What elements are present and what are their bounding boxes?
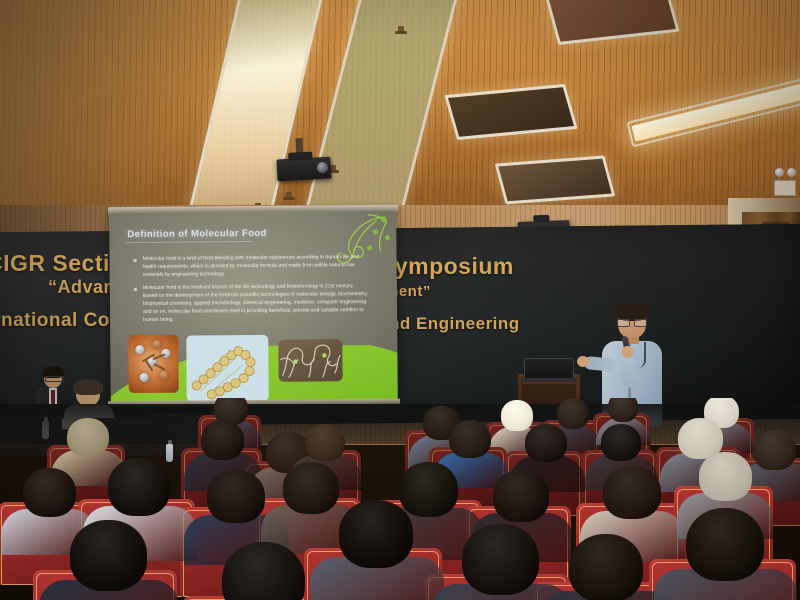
- audience-member: [452, 524, 548, 600]
- emergency-light: [775, 168, 797, 178]
- audience-member-head: [222, 542, 305, 600]
- audience-member: [196, 420, 250, 474]
- slide-bullet-2-text: Molecular food is the forefront branch o…: [143, 282, 368, 324]
- audience-area: [0, 398, 800, 600]
- audience-member: [330, 500, 422, 592]
- audience-member-head: [699, 452, 752, 501]
- audience-member-head: [108, 458, 170, 516]
- laptop: [524, 358, 574, 380]
- audience-member-head: [449, 420, 491, 458]
- ceiling-light-fixture-5: [495, 156, 616, 205]
- audience-member-head: [608, 398, 638, 422]
- slide-bullet-1-text: Molecular food is a kind of food blendin…: [143, 253, 368, 279]
- audience-member: [560, 534, 652, 600]
- slide-bullet-1: Molecular food is a kind of food blendin…: [132, 253, 368, 279]
- polymer-network-image: [278, 339, 342, 382]
- audience-member-head: [67, 418, 109, 456]
- audience-member-head: [201, 420, 244, 460]
- audience-member-head: [601, 424, 641, 461]
- slide-bullet-2: Molecular food is the forefront branch o…: [132, 282, 368, 324]
- sprinkler-head-2: [286, 192, 292, 199]
- protein-helix-image: [186, 335, 269, 402]
- audience-member: [596, 466, 668, 538]
- presenter-left-hand: [577, 356, 589, 367]
- projection-screen: Definition of Molecular Food Molecular f…: [109, 211, 398, 405]
- presenter-right-hand: [622, 346, 633, 358]
- ceiling: [0, 0, 800, 215]
- audience-member: [212, 542, 316, 600]
- audience-member-head: [23, 468, 76, 517]
- audience-member-head: [603, 466, 661, 519]
- ceiling-projector: [276, 157, 331, 182]
- audience-member-head: [686, 508, 764, 581]
- molecule-ball-and-stick-image: [128, 335, 179, 393]
- audience-member: [676, 508, 774, 600]
- sprinkler-head-1: [398, 26, 404, 33]
- audience-member: [520, 424, 572, 476]
- audience-member-head: [493, 470, 549, 522]
- slide-bullet-list: Molecular food is a kind of food blendin…: [132, 253, 369, 329]
- slide-title: Definition of Molecular Food: [127, 228, 267, 240]
- audience-member-head: [305, 424, 345, 461]
- audience-member: [60, 520, 156, 600]
- presenter-glasses-icon: [617, 319, 647, 325]
- audience-member-head: [569, 534, 643, 600]
- audience-member-head: [207, 470, 265, 523]
- audience-member-head: [70, 520, 147, 591]
- banner-right-line-1: Symposium: [379, 253, 514, 280]
- audience-member-head: [462, 524, 539, 595]
- emergency-light-plate: [774, 180, 796, 196]
- audience-member-head: [753, 430, 796, 470]
- projector-lens: [317, 162, 329, 174]
- audience-member-head: [339, 500, 413, 568]
- banner-right-line-3: and Engineering: [379, 314, 520, 334]
- audience-member-head: [525, 424, 567, 462]
- conference-hall-photo: CIGR Section “Advanced ernational Cong S…: [0, 0, 800, 600]
